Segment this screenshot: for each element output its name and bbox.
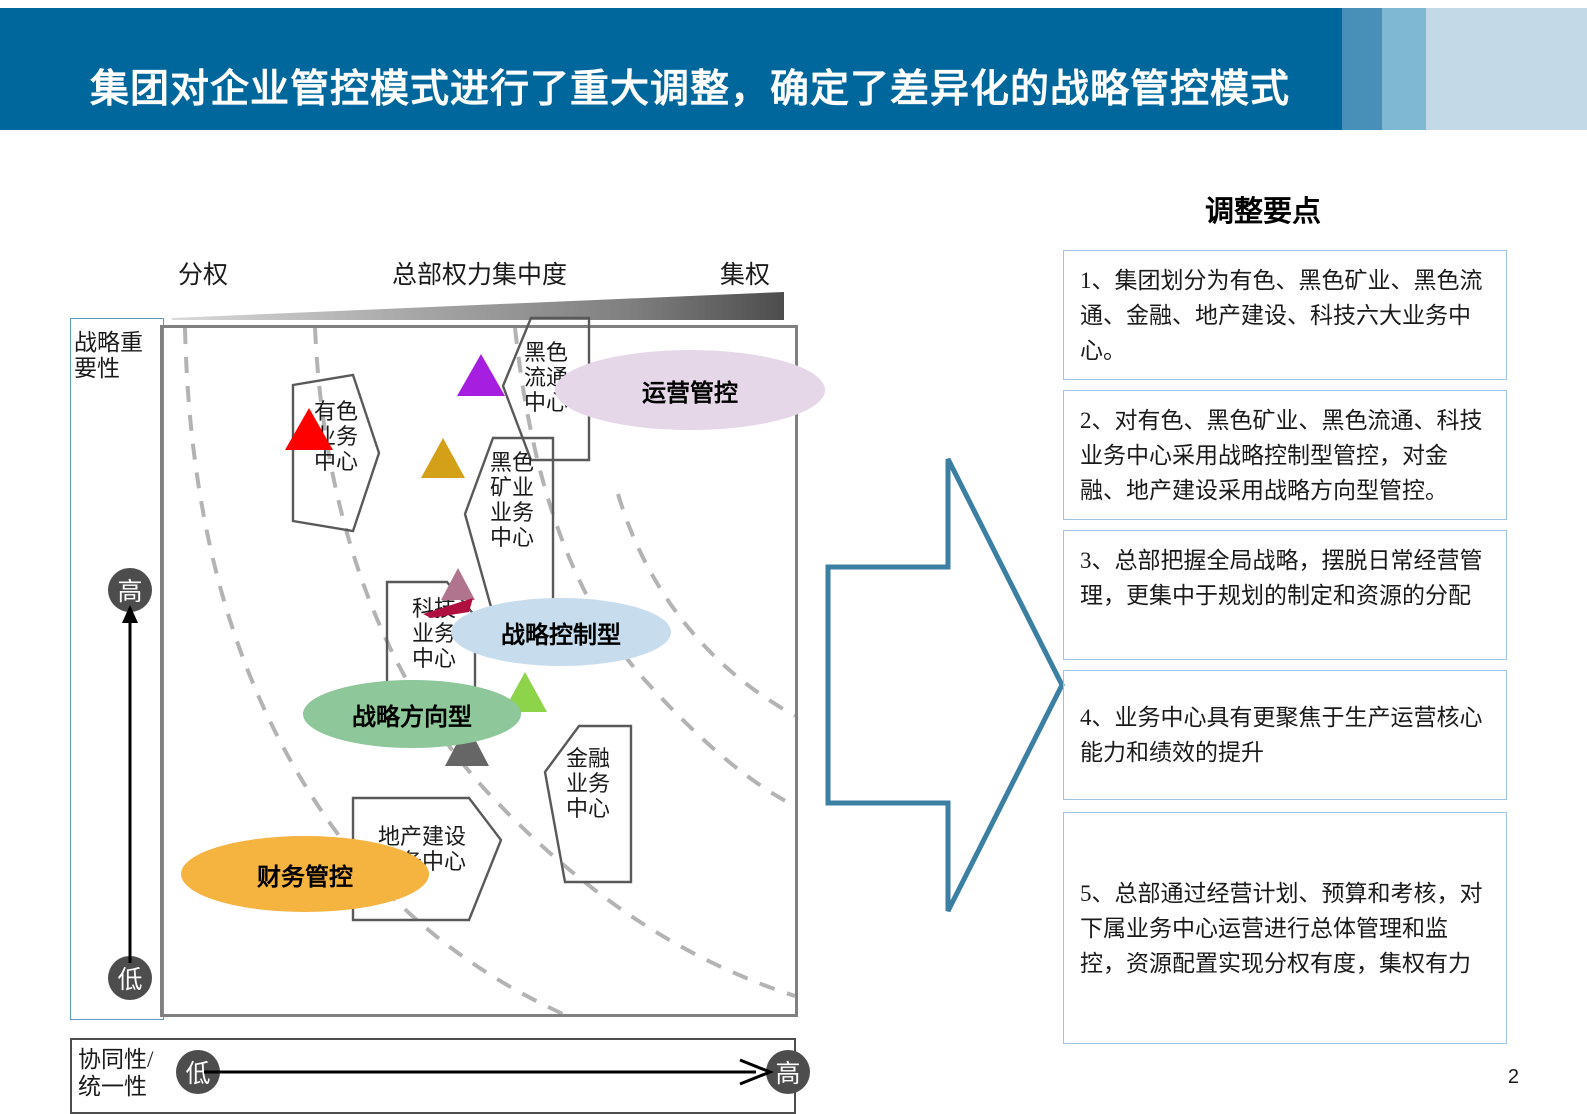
hex-label-black-mining-text: 黑色 矿业 业务 中心 xyxy=(475,450,549,550)
y-axis-arrow-icon xyxy=(112,605,148,965)
band-operational-control: 运营管控 xyxy=(555,350,825,430)
header-accent-band-3 xyxy=(1426,8,1587,130)
hex-label-finance: 金融 业务 中心 xyxy=(543,724,633,884)
process-arrow-icon xyxy=(820,455,1070,915)
hex-label-nonferrous: 有色 业务 中心 xyxy=(291,373,381,533)
note-item-5: 5、总部通过经营计划、预算和考核，对下属业务中心运营进行总体管理和监控，资源配置… xyxy=(1063,812,1507,1044)
x-axis-right-label: 集权 xyxy=(720,255,770,291)
band-strategic-direction: 战略方向型 xyxy=(303,680,521,748)
page-title: 集团对企业管控模式进行了重大调整，确定了差异化的战略管控模式 xyxy=(90,58,1290,114)
band-financial-control: 财务管控 xyxy=(181,836,429,912)
matrix-plot-area: 有色 业务 中心 黑色 流通 中心 黑色 矿业 业务 中心 科技 业务 中心 xyxy=(160,325,798,1017)
secondary-axis-arrow-icon xyxy=(200,1052,780,1092)
header-accent-band-1 xyxy=(1342,8,1382,130)
note-item-2: 2、对有色、黑色矿业、黑色流通、科技业务中心采用战略控制型管控，对金融、地产建设… xyxy=(1063,390,1507,520)
note-item-4: 4、业务中心具有更聚焦于生产运营核心能力和绩效的提升 xyxy=(1063,670,1507,800)
x-axis-left-label: 分权 xyxy=(178,255,228,291)
header-accent-band-2 xyxy=(1382,8,1426,130)
band-strategic-control: 战略控制型 xyxy=(451,598,671,666)
management-model-matrix: 分权 总部权力集中度 集权 战略重要性 高 低 xyxy=(0,150,830,980)
x-axis-title: 总部权力集中度 xyxy=(392,255,567,291)
power-gradient-wedge xyxy=(172,290,784,320)
panel-title: 调整要点 xyxy=(1205,188,1321,230)
marker-black-mining xyxy=(421,438,465,478)
hex-label-finance-text: 金融 业务 中心 xyxy=(553,746,623,821)
page-number: 2 xyxy=(1508,1066,1519,1089)
band-strategic-control-label: 战略控制型 xyxy=(501,615,621,650)
secondary-axis-title: 协同性/ 统一性 xyxy=(78,1046,188,1100)
slide-title-bar: 集团对企业管控模式进行了重大调整，确定了差异化的战略管控模式 xyxy=(0,8,1342,130)
note-item-3: 3、总部把握全局战略，摆脱日常经营管理，更集中于规划的制定和资源的分配 xyxy=(1063,530,1507,660)
band-financial-control-label: 财务管控 xyxy=(257,857,353,892)
y-axis-title: 战略重要性 xyxy=(74,330,156,382)
marker-nonferrous xyxy=(285,408,333,450)
marker-black-circulation xyxy=(457,354,505,396)
band-operational-control-label: 运营管控 xyxy=(642,373,738,408)
note-item-1: 1、集团划分为有色、黑色矿业、黑色流通、金融、地产建设、科技六大业务中心。 xyxy=(1063,250,1507,380)
band-strategic-direction-label: 战略方向型 xyxy=(352,697,472,732)
